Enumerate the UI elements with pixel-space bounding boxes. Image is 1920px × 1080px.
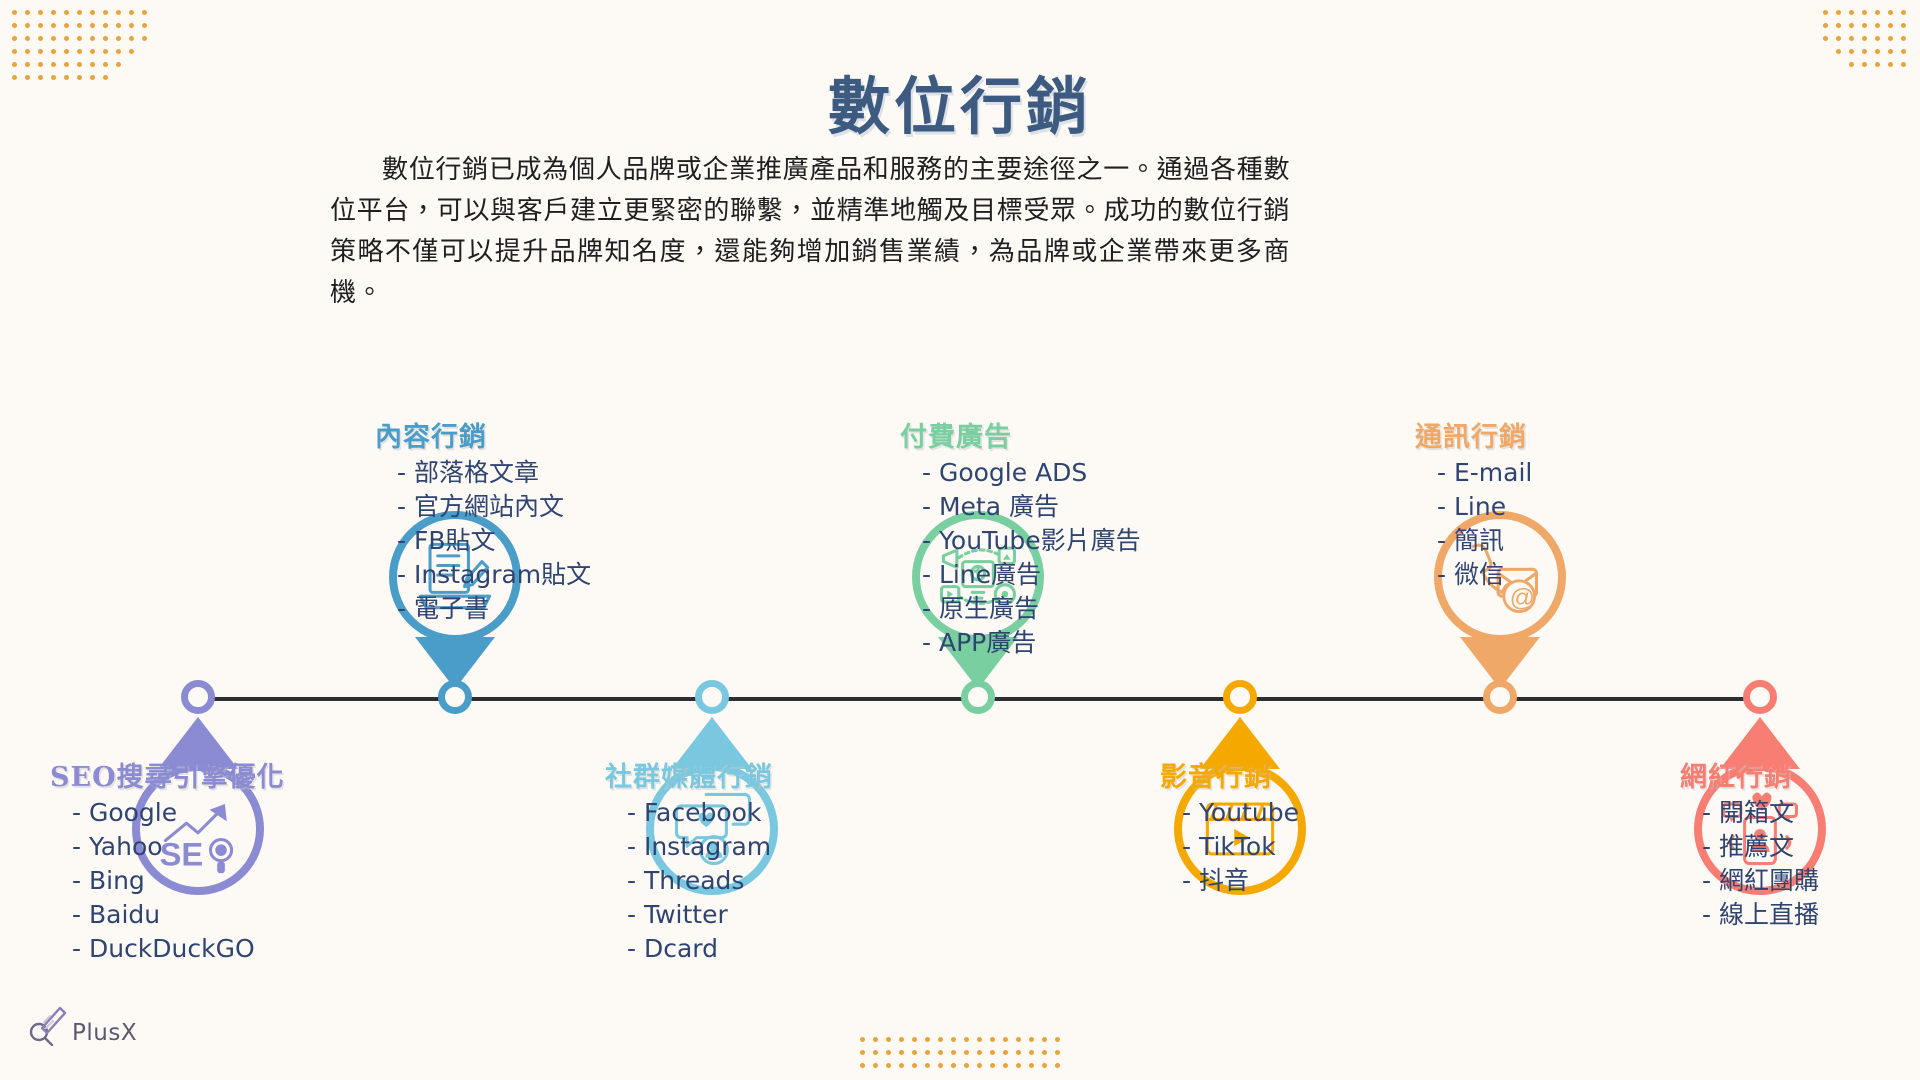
list-item: Baidu [72, 898, 285, 932]
slide-canvas: 數位行銷 數位行銷已成為個人品牌或企業推廣產品和服務的主要途徑之一。通過各種數位… [0, 0, 1920, 1080]
marketing-channel-influencer: 網紅行銷開箱文推薦文網紅團購線上直播 [1680, 755, 1819, 932]
timeline-node-influencer [1743, 680, 1777, 714]
list-item: Meta 廣告 [922, 490, 1141, 524]
marketing-channel-messaging: 通訊行銷E-mailLine簡訊微信 [1415, 415, 1532, 592]
timeline-node-social [695, 680, 729, 714]
list-item: Twitter [627, 898, 773, 932]
channel-list-messaging: E-mailLine簡訊微信 [1415, 456, 1532, 592]
channel-heading-paid-ads: 付費廣告 [900, 415, 1141, 454]
marketing-channel-paid-ads: 付費廣告Google ADSMeta 廣告YouTube影片廣告Line廣告原生… [900, 415, 1141, 660]
list-item: Google [72, 796, 285, 830]
list-item: Line [1437, 490, 1532, 524]
channel-list-social: FacebookInstagramThreadsTwitterDcard [605, 796, 773, 966]
marketing-channel-content: 內容行銷部落格文章官方網站內文FB貼文Instagram貼文電子書 [375, 415, 591, 626]
channel-list-paid-ads: Google ADSMeta 廣告YouTube影片廣告Line廣告原生廣告AP… [900, 456, 1141, 660]
timeline-node-seo [181, 680, 215, 714]
list-item: Instagram貼文 [397, 558, 591, 592]
plusx-logo: PlusX [26, 1002, 137, 1046]
list-item: 開箱文 [1702, 796, 1819, 830]
timeline-node-video [1223, 680, 1257, 714]
list-item: 線上直播 [1702, 898, 1819, 932]
list-item: Line廣告 [922, 558, 1141, 592]
list-item: Bing [72, 864, 285, 898]
list-item: Threads [627, 864, 773, 898]
channel-heading-seo: SEO搜尋引擎優化 [50, 755, 285, 794]
list-item: 原生廣告 [922, 592, 1141, 626]
channel-heading-influencer: 網紅行銷 [1680, 755, 1819, 794]
magnifier-pen-icon [26, 1002, 70, 1046]
list-item: 電子書 [397, 592, 591, 626]
dot-grid-bottom-center [856, 1033, 1064, 1072]
list-item: 網紅團購 [1702, 864, 1819, 898]
list-item: Instagram [627, 830, 773, 864]
list-item: TikTok [1182, 830, 1299, 864]
channel-heading-messaging: 通訊行銷 [1415, 415, 1532, 454]
list-item: Dcard [627, 932, 773, 966]
marketing-channel-seo: SEO搜尋引擎優化GoogleYahooBingBaiduDuckDuckGO [50, 755, 285, 966]
timeline-node-messaging [1483, 680, 1517, 714]
list-item: YouTube影片廣告 [922, 524, 1141, 558]
list-item: Youtube [1182, 796, 1299, 830]
list-item: Google ADS [922, 456, 1141, 490]
channel-list-seo: GoogleYahooBingBaiduDuckDuckGO [50, 796, 285, 966]
channel-heading-social: 社群媒體行銷 [605, 755, 773, 794]
list-item: 微信 [1437, 558, 1532, 592]
logo-text: PlusX [72, 1020, 137, 1046]
list-item: 抖音 [1182, 864, 1299, 898]
list-item: 簡訊 [1437, 524, 1532, 558]
list-item: DuckDuckGO [72, 932, 285, 966]
page-title: 數位行銷 [0, 56, 1920, 146]
list-item: E-mail [1437, 456, 1532, 490]
list-item: Yahoo [72, 830, 285, 864]
channel-heading-content: 內容行銷 [375, 415, 591, 454]
list-item: 推薦文 [1702, 830, 1819, 864]
marketing-channel-social: 社群媒體行銷FacebookInstagramThreadsTwitterDca… [605, 755, 773, 966]
list-item: Facebook [627, 796, 773, 830]
timeline-node-paid-ads [961, 680, 995, 714]
list-item: 官方網站內文 [397, 490, 591, 524]
channel-list-influencer: 開箱文推薦文網紅團購線上直播 [1680, 796, 1819, 932]
channel-list-content: 部落格文章官方網站內文FB貼文Instagram貼文電子書 [375, 456, 591, 626]
marketing-channel-video: 影音行銷YoutubeTikTok抖音 [1160, 755, 1299, 898]
list-item: FB貼文 [397, 524, 591, 558]
timeline-node-content [438, 680, 472, 714]
channel-list-video: YoutubeTikTok抖音 [1160, 796, 1299, 898]
channel-heading-video: 影音行銷 [1160, 755, 1299, 794]
intro-paragraph: 數位行銷已成為個人品牌或企業推廣產品和服務的主要途徑之一。通過各種數位平台，可以… [330, 150, 1290, 314]
list-item: APP廣告 [922, 626, 1141, 660]
list-item: 部落格文章 [397, 456, 591, 490]
